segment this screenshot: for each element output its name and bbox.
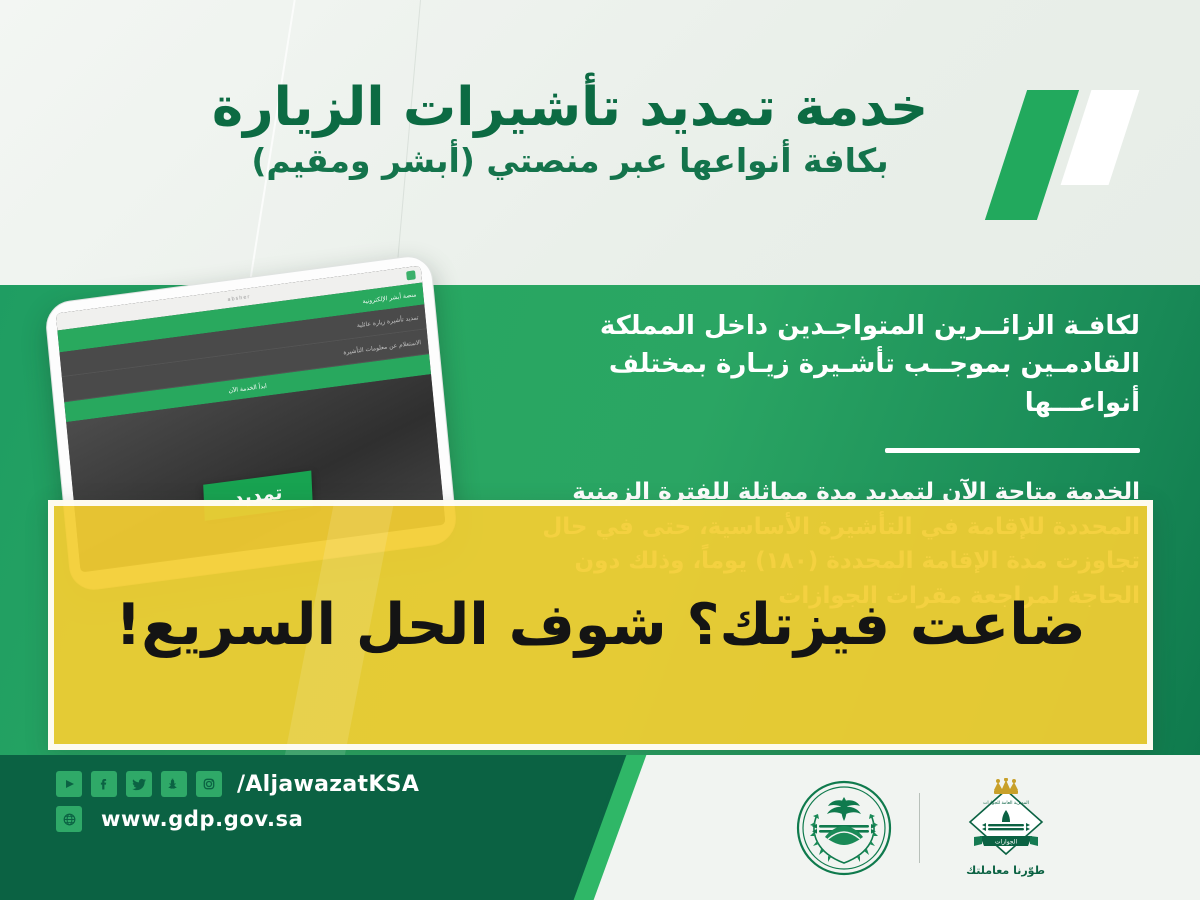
app-row-1-label: تمديد تأشيرة زيارة عائلية	[357, 314, 419, 329]
social-handle[interactable]: /AljawazatKSA	[237, 772, 419, 797]
website-url[interactable]: www.gdp.gov.sa	[101, 807, 303, 831]
footer-light-block: المديرية العامة للجوازات	[660, 755, 1200, 900]
social-row-website: www.gdp.gov.sa	[56, 806, 419, 832]
snapchat-icon[interactable]	[161, 771, 187, 797]
moi-logo	[795, 779, 893, 877]
globe-icon[interactable]	[56, 806, 82, 832]
flag-stripe-green	[985, 90, 1079, 220]
poster-footer: المديرية العامة للجوازات	[0, 755, 1200, 900]
social-links: /AljawazatKSA www.gdp.gov.sa	[56, 771, 419, 841]
jawazat-emblem-icon: المديرية العامة للجوازات	[958, 778, 1054, 862]
browser-url-text: absher	[227, 294, 251, 303]
moi-emblem-icon	[795, 779, 893, 877]
poster-canvas: خدمة تمديد تأشيرات الزيارة بكافة أنواعها…	[0, 0, 1200, 900]
svg-text:المديرية العامة للجوازات: المديرية العامة للجوازات	[983, 801, 1029, 806]
social-row-accounts: /AljawazatKSA	[56, 771, 419, 797]
panel-paragraph-1: لكافـة الزائــرين المتواجـدين داخل الممل…	[530, 307, 1140, 422]
panel-divider	[885, 448, 1140, 453]
app-nav-label: منصة أبشر الإلكترونية	[362, 291, 416, 305]
app-row-2-label: الاستعلام عن معلومات التأشيرة	[343, 339, 421, 356]
flag-stripes-icon	[980, 90, 1130, 220]
browser-tab-icon	[406, 270, 416, 280]
instagram-icon[interactable]	[196, 771, 222, 797]
jawazat-logo: المديرية العامة للجوازات	[946, 773, 1066, 883]
twitter-icon[interactable]	[126, 771, 152, 797]
app-action-label: ابدأ الخدمة الآن	[228, 382, 267, 394]
youtube-icon[interactable]	[56, 771, 82, 797]
logo-separator	[919, 793, 920, 863]
banner-headline: ضاعت فيزتك؟ شوف الحل السريع!	[115, 594, 1085, 657]
highlight-banner: ضاعت فيزتك؟ شوف الحل السريع!	[48, 500, 1153, 750]
facebook-icon[interactable]	[91, 771, 117, 797]
footer-logos: المديرية العامة للجوازات	[660, 755, 1200, 900]
svg-text:الجوازات: الجوازات	[994, 839, 1017, 846]
jawazat-logo-caption: طوّرنا معاملتك	[966, 864, 1045, 877]
